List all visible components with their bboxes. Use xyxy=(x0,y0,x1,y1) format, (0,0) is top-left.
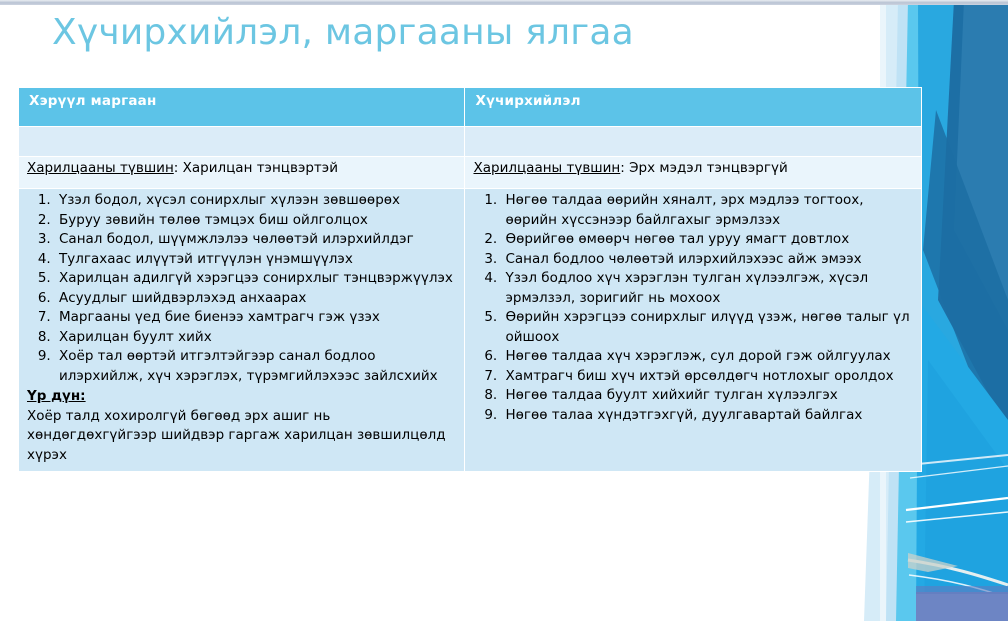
page-title: Хүчирхийлэл, маргааны ялгаа xyxy=(52,10,634,56)
list-item: Буруу зөвийн төлөө тэмцэх биш ойлголцох xyxy=(55,211,458,231)
top-edge-strip xyxy=(0,0,1008,5)
list-item: Үзэл бодлоо хүч хэрэглэн тулган хүлээлгэ… xyxy=(501,269,915,308)
table-body-row: Үзэл бодол, хүсэл сонирхлыг хүлээн зөвшө… xyxy=(19,189,922,472)
subheader-label-left: Харилцааны түвшин xyxy=(27,160,174,176)
table-subheader-row: Харилцааны түвшин: Харилцан тэнцвэртэй Х… xyxy=(19,157,922,189)
list-item: Асуудлыг шийдвэрлэхэд анхаарах xyxy=(55,289,458,309)
table-header-row: Хэрүүл маргаан Хүчирхийлэл xyxy=(19,88,922,127)
list-item: Нөгөө талдаа хүч хэрэглэж, сул дорой гэж… xyxy=(501,347,915,367)
spacer-cell-left xyxy=(19,127,465,157)
list-item: Санал бодлоо чөлөөтэй илэрхийлэхээс айж … xyxy=(501,250,915,270)
column-header-left: Хэрүүл маргаан xyxy=(19,88,465,127)
list-item: Хамтрагч биш хүч ихтэй өрсөлдөгч нотлохы… xyxy=(501,367,915,387)
spacer-cell-right xyxy=(465,127,922,157)
result-text-left: Хоёр талд хохиролгүй бөгөөд эрх ашиг нь … xyxy=(25,407,458,466)
list-item: Санал бодол, шүүмжлэлээ чөлөөтэй илэрхий… xyxy=(55,230,458,250)
subheader-cell-right: Харилцааны түвшин: Эрх мэдэл тэнцвэргүй xyxy=(465,157,922,189)
subheader-value-right: : Эрх мэдэл тэнцвэргүй xyxy=(620,160,787,176)
list-item: Өөрийн хэрэгцээ сонирхлыг илүүд үзэж, нө… xyxy=(501,308,915,347)
column-header-right: Хүчирхийлэл xyxy=(465,88,922,127)
list-item: Харилцан буулт хийх xyxy=(55,328,458,348)
result-label-left: Үр дүн: xyxy=(25,386,458,407)
list-item: Маргааны үед бие биенээ хамтрагч гэж үзэ… xyxy=(55,308,458,328)
list-item: Тулгахаас илүүтэй итгүүлэн үнэмшүүлэх xyxy=(55,250,458,270)
list-item: Харилцан адилгүй хэрэгцээ сонирхлыг тэнц… xyxy=(55,269,458,289)
comparison-table: Хэрүүл маргаан Хүчирхийлэл Харилцааны тү… xyxy=(18,87,922,472)
subheader-cell-left: Харилцааны түвшин: Харилцан тэнцвэртэй xyxy=(19,157,465,189)
numbered-list-right: Нөгөө талдаа өөрийн хяналт, эрх мэдлээ т… xyxy=(471,191,915,425)
body-cell-right: Нөгөө талдаа өөрийн хяналт, эрх мэдлээ т… xyxy=(465,189,922,472)
table-spacer-row xyxy=(19,127,922,157)
list-item: Нөгөө талаа хүндэтгэхгүй, дуулгавартай б… xyxy=(501,406,915,426)
subheader-label-right: Харилцааны түвшин xyxy=(473,160,620,176)
numbered-list-left: Үзэл бодол, хүсэл сонирхлыг хүлээн зөвшө… xyxy=(25,191,458,386)
list-item: Үзэл бодол, хүсэл сонирхлыг хүлээн зөвшө… xyxy=(55,191,458,211)
list-item: Нөгөө талдаа өөрийн хяналт, эрх мэдлээ т… xyxy=(501,191,915,230)
list-item: Өөрийгөө өмөөрч нөгөө тал уруу ямагт дов… xyxy=(501,230,915,250)
subheader-value-left: : Харилцан тэнцвэртэй xyxy=(174,160,338,176)
body-cell-left: Үзэл бодол, хүсэл сонирхлыг хүлээн зөвшө… xyxy=(19,189,465,472)
slide-canvas: Хүчирхийлэл, маргааны ялгаа Хэрүүл марга… xyxy=(0,0,1008,621)
result-label-right xyxy=(471,425,915,426)
list-item: Хоёр тал өөртэй итгэлтэйгээр санал бодло… xyxy=(55,347,458,386)
list-item: Нөгөө талдаа буулт хийхийг тулган хүлээл… xyxy=(501,386,915,406)
